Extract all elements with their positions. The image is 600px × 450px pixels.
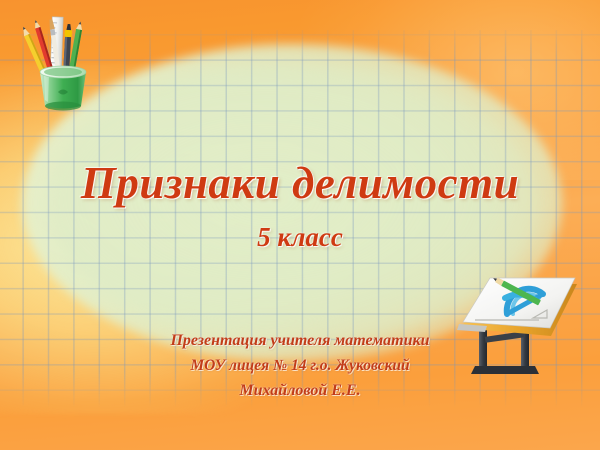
credit-line-2: МОУ лицея № 14 г.о. Жуковский <box>0 353 600 378</box>
credits-block: Презентация учителя математики МОУ лицея… <box>0 328 600 403</box>
credit-line-3: Михайловой Е.Е. <box>0 378 600 403</box>
page-subtitle: 5 класс <box>0 222 600 253</box>
credit-line-1: Презентация учителя математики <box>0 328 600 353</box>
page-title: Признаки делимости <box>0 157 600 209</box>
pencil-cup-illustration <box>18 12 110 112</box>
presentation-slide: Признаки делимости 5 класс Презентация у… <box>0 0 600 450</box>
